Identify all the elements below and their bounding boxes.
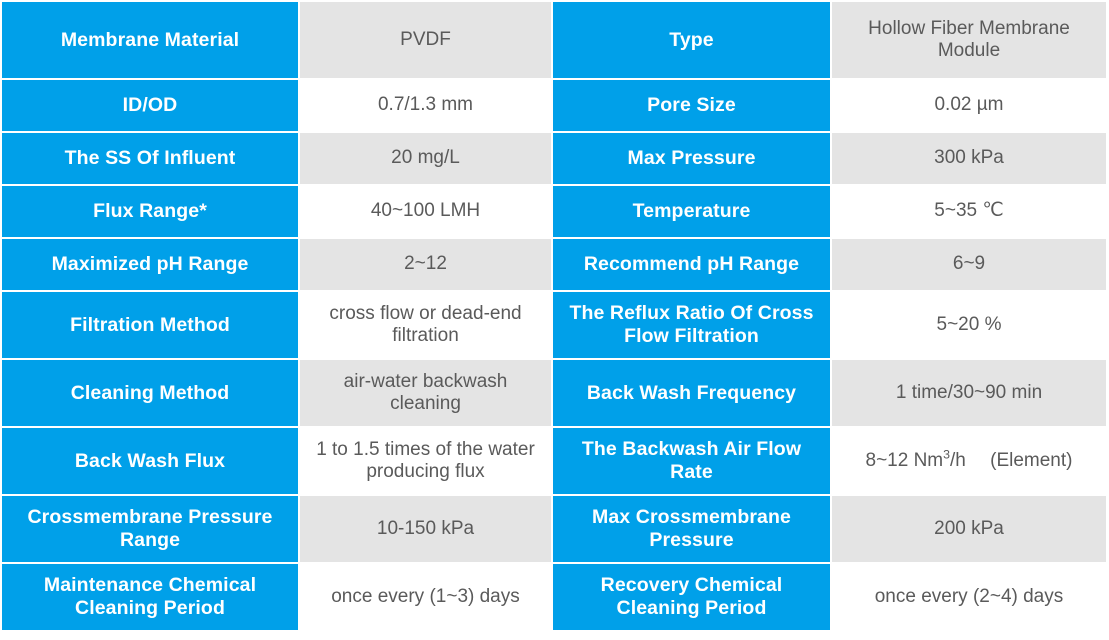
label-text: The SS Of Influent bbox=[65, 147, 236, 170]
row-label-cell: Maintenance Chemical Cleaning Period bbox=[2, 564, 298, 630]
row-label-cell: Back Wash Flux bbox=[2, 428, 298, 494]
value-text: PVDF bbox=[400, 29, 451, 51]
label-text: Back Wash Flux bbox=[75, 450, 225, 473]
row-value-cell: PVDF bbox=[300, 2, 551, 78]
row-label-cell: The SS Of Influent bbox=[2, 133, 298, 184]
row-label-cell: Type bbox=[553, 2, 830, 78]
table-row: Filtration Method cross flow or dead-end… bbox=[2, 292, 1102, 358]
label-text: Pore Size bbox=[647, 94, 736, 117]
row-label-cell: Max Crossmembrane Pressure bbox=[553, 496, 830, 562]
table-row: ID/OD 0.7/1.3 mm Pore Size 0.02 µm bbox=[2, 80, 1102, 131]
label-text: Recommend pH Range bbox=[584, 253, 799, 276]
label-text: Back Wash Frequency bbox=[587, 382, 796, 405]
value-text: 6~9 bbox=[953, 253, 985, 275]
row-value-cell: 10-150 kPa bbox=[300, 496, 551, 562]
row-label-cell: Cleaning Method bbox=[2, 360, 298, 426]
row-label-cell: The Backwash Air Flow Rate bbox=[553, 428, 830, 494]
value-text: 40~100 LMH bbox=[371, 200, 480, 222]
row-value-cell: Hollow Fiber Membrane Module bbox=[832, 2, 1106, 78]
row-value-cell: cross flow or dead-end filtration bbox=[300, 292, 551, 358]
label-text: Crossmembrane Pressure Range bbox=[10, 506, 290, 552]
value-text: cross flow or dead-end filtration bbox=[308, 303, 543, 348]
value-text: 2~12 bbox=[404, 253, 447, 275]
label-text: Cleaning Method bbox=[71, 382, 230, 405]
row-value-cell: 200 kPa bbox=[832, 496, 1106, 562]
table-row: Cleaning Method air-water backwash clean… bbox=[2, 360, 1102, 426]
row-label-cell: Recommend pH Range bbox=[553, 239, 830, 290]
row-label-cell: ID/OD bbox=[2, 80, 298, 131]
label-text: Maintenance Chemical Cleaning Period bbox=[10, 574, 290, 620]
label-text: The Reflux Ratio Of Cross Flow Filtratio… bbox=[561, 302, 822, 348]
row-label-cell: Membrane Material bbox=[2, 2, 298, 78]
table-row: Crossmembrane Pressure Range 10-150 kPa … bbox=[2, 496, 1102, 562]
row-value-cell: 5~35 ℃ bbox=[832, 186, 1106, 237]
row-label-cell: Filtration Method bbox=[2, 292, 298, 358]
row-label-cell: Max Pressure bbox=[553, 133, 830, 184]
row-value-cell: 20 mg/L bbox=[300, 133, 551, 184]
value-text: 0.02 µm bbox=[934, 94, 1003, 116]
row-label-cell: Pore Size bbox=[553, 80, 830, 131]
row-value-cell: 8~12 Nm3/h (Element) bbox=[832, 428, 1106, 494]
label-text: Temperature bbox=[633, 200, 751, 223]
row-label-cell: Temperature bbox=[553, 186, 830, 237]
row-value-cell: 6~9 bbox=[832, 239, 1106, 290]
row-value-cell: 0.7/1.3 mm bbox=[300, 80, 551, 131]
value-text: 5~35 ℃ bbox=[934, 200, 1003, 222]
label-text: Maximized pH Range bbox=[52, 253, 249, 276]
label-text: Recovery Chemical Cleaning Period bbox=[561, 574, 822, 620]
table-row: Maintenance Chemical Cleaning Period onc… bbox=[2, 564, 1102, 630]
specification-table: Membrane Material PVDF Type Hollow Fiber… bbox=[0, 0, 1109, 640]
value-text: air-water backwash cleaning bbox=[308, 371, 543, 416]
table-row: Maximized pH Range 2~12 Recommend pH Ran… bbox=[2, 239, 1102, 290]
table-row: Back Wash Flux 1 to 1.5 times of the wat… bbox=[2, 428, 1102, 494]
label-text: Flux Range* bbox=[93, 200, 207, 223]
row-value-cell: 1 to 1.5 times of the water producing fl… bbox=[300, 428, 551, 494]
row-value-cell: 2~12 bbox=[300, 239, 551, 290]
row-value-cell: 0.02 µm bbox=[832, 80, 1106, 131]
value-text: once every (2~4) days bbox=[875, 586, 1064, 608]
label-text: ID/OD bbox=[123, 94, 178, 117]
table-row: The SS Of Influent 20 mg/L Max Pressure … bbox=[2, 133, 1102, 184]
value-text: 0.7/1.3 mm bbox=[378, 94, 473, 116]
value-text: once every (1~3) days bbox=[331, 586, 520, 608]
row-value-cell: once every (2~4) days bbox=[832, 564, 1106, 630]
label-text: Type bbox=[669, 29, 713, 52]
table-row: Membrane Material PVDF Type Hollow Fiber… bbox=[2, 2, 1102, 78]
row-value-cell: 1 time/30~90 min bbox=[832, 360, 1106, 426]
value-text: 1 time/30~90 min bbox=[896, 382, 1042, 404]
value-text: Hollow Fiber Membrane Module bbox=[840, 18, 1098, 63]
row-label-cell: Flux Range* bbox=[2, 186, 298, 237]
value-text: 5~20 % bbox=[937, 314, 1002, 336]
value-text: 300 kPa bbox=[934, 147, 1004, 169]
row-label-cell: Maximized pH Range bbox=[2, 239, 298, 290]
row-value-cell: once every (1~3) days bbox=[300, 564, 551, 630]
value-text: 200 kPa bbox=[934, 518, 1004, 540]
table-row: Flux Range* 40~100 LMH Temperature 5~35 … bbox=[2, 186, 1102, 237]
value-text-airflow: 8~12 Nm3/h (Element) bbox=[866, 450, 1073, 472]
row-value-cell: air-water backwash cleaning bbox=[300, 360, 551, 426]
row-label-cell: Crossmembrane Pressure Range bbox=[2, 496, 298, 562]
label-text: The Backwash Air Flow Rate bbox=[561, 438, 822, 484]
label-text: Max Crossmembrane Pressure bbox=[561, 506, 822, 552]
label-text: Max Pressure bbox=[627, 147, 755, 170]
label-text: Membrane Material bbox=[61, 29, 239, 52]
value-text: 10-150 kPa bbox=[377, 518, 474, 540]
label-text: Filtration Method bbox=[70, 314, 230, 337]
row-value-cell: 300 kPa bbox=[832, 133, 1106, 184]
row-value-cell: 40~100 LMH bbox=[300, 186, 551, 237]
value-text: 1 to 1.5 times of the water producing fl… bbox=[308, 439, 543, 484]
value-text: 20 mg/L bbox=[391, 147, 460, 169]
row-value-cell: 5~20 % bbox=[832, 292, 1106, 358]
row-label-cell: The Reflux Ratio Of Cross Flow Filtratio… bbox=[553, 292, 830, 358]
row-label-cell: Back Wash Frequency bbox=[553, 360, 830, 426]
row-label-cell: Recovery Chemical Cleaning Period bbox=[553, 564, 830, 630]
